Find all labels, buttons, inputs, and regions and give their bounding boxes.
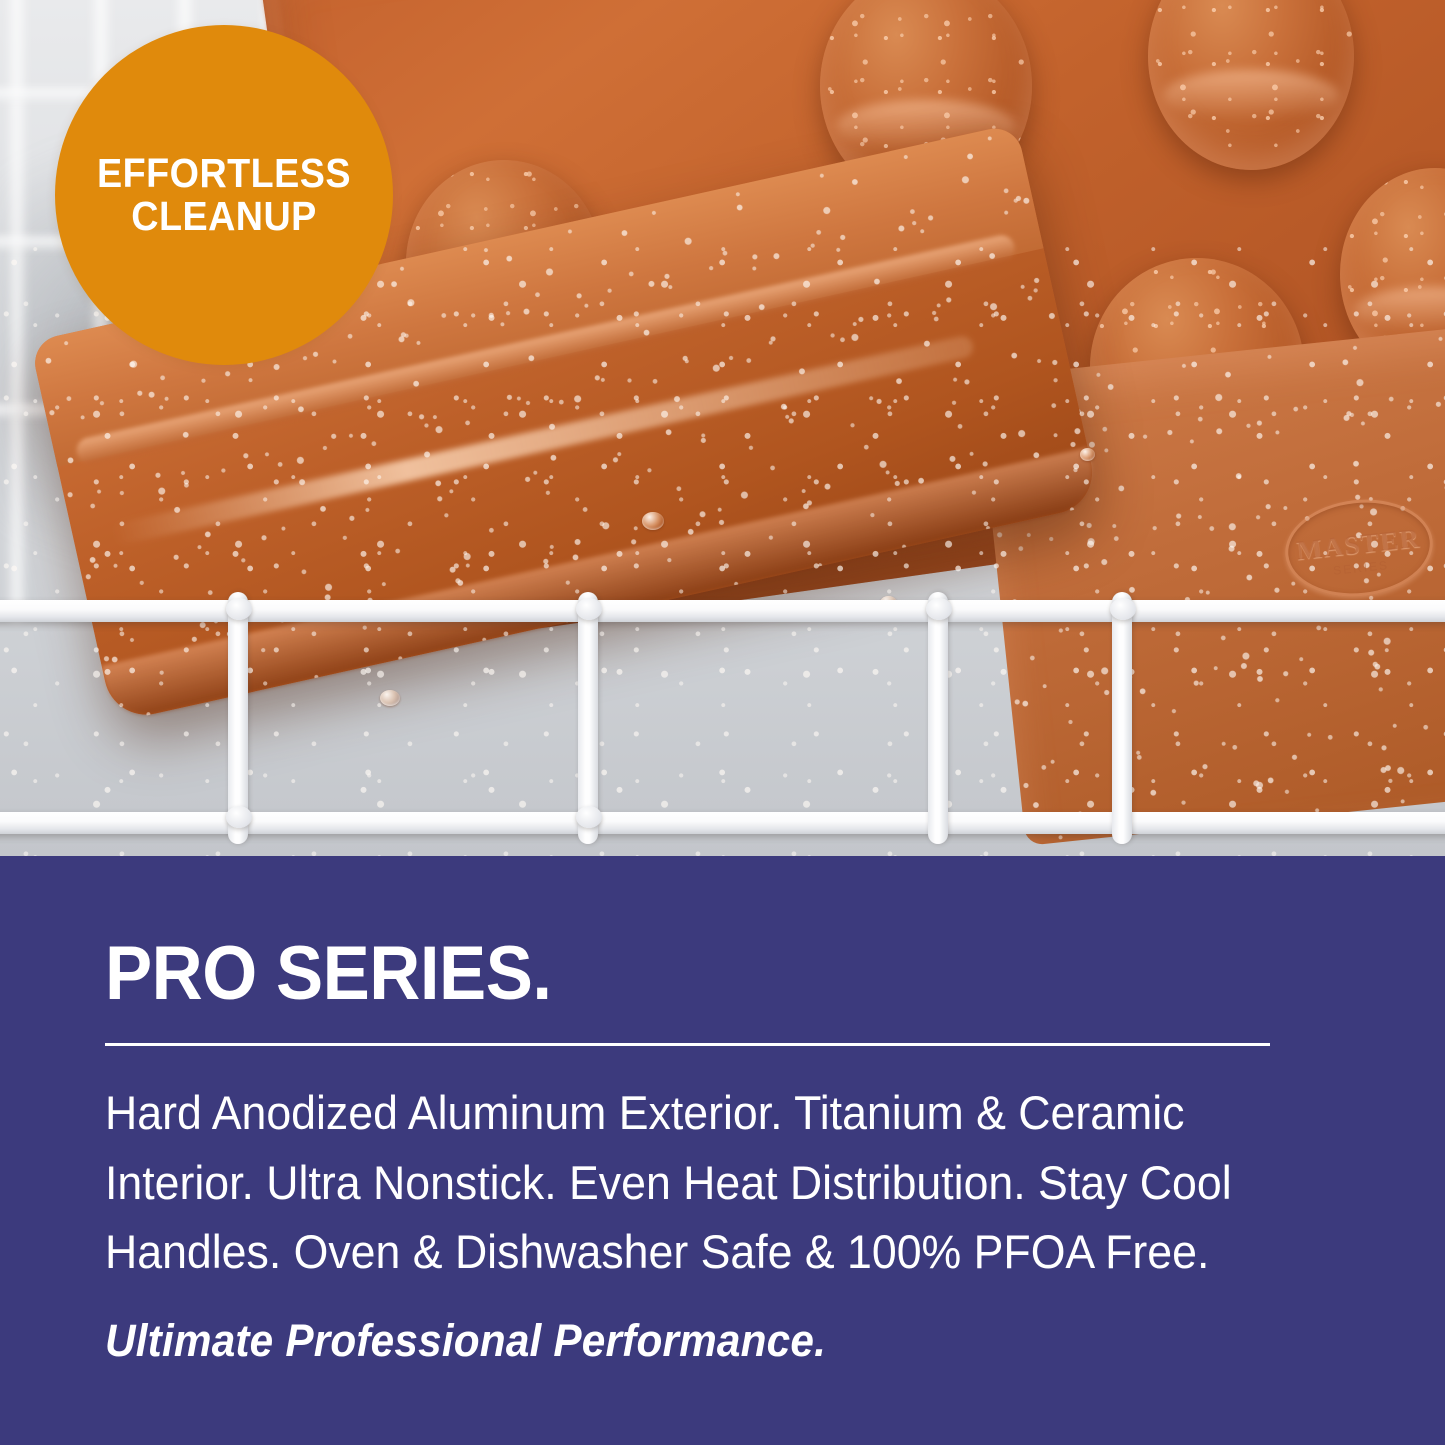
effortless-cleanup-badge: EFFORTLESS CLEANUP <box>55 25 393 365</box>
dishwasher-rack-tine <box>928 592 948 844</box>
rack-wire-node <box>576 806 602 828</box>
dishwasher-rack-wire-lower <box>0 812 1445 834</box>
cake-pan-base-edge <box>102 447 1101 722</box>
rack-wire-node <box>1110 598 1136 620</box>
tagline: Ultimate Professional Performance. <box>105 1315 1266 1367</box>
water-droplet <box>642 512 664 530</box>
water-droplet <box>380 690 400 706</box>
water-droplet <box>1080 448 1095 461</box>
badge-label: EFFORTLESS CLEANUP <box>97 152 351 239</box>
rack-wire-node <box>226 598 252 620</box>
product-photo: MASTER SERIES E <box>0 0 1445 856</box>
rack-wire-node <box>926 598 952 620</box>
rack-wire-node <box>226 806 252 828</box>
rack-wire-node <box>576 598 602 620</box>
badge-line-1: EFFORTLESS <box>97 150 351 196</box>
info-panel: PRO SERIES. Hard Anodized Aluminum Exter… <box>0 856 1445 1445</box>
dishwasher-rack-wire-upper <box>0 600 1445 622</box>
page-title: PRO SERIES. <box>105 938 1254 1011</box>
badge-line-2: CLEANUP <box>97 195 351 238</box>
dishwasher-rack-tine <box>1112 592 1132 844</box>
divider <box>105 1043 1270 1046</box>
product-feature-card: MASTER SERIES E <box>0 0 1445 1445</box>
feature-description: Hard Anodized Aluminum Exterior. Titaniu… <box>105 1078 1245 1287</box>
